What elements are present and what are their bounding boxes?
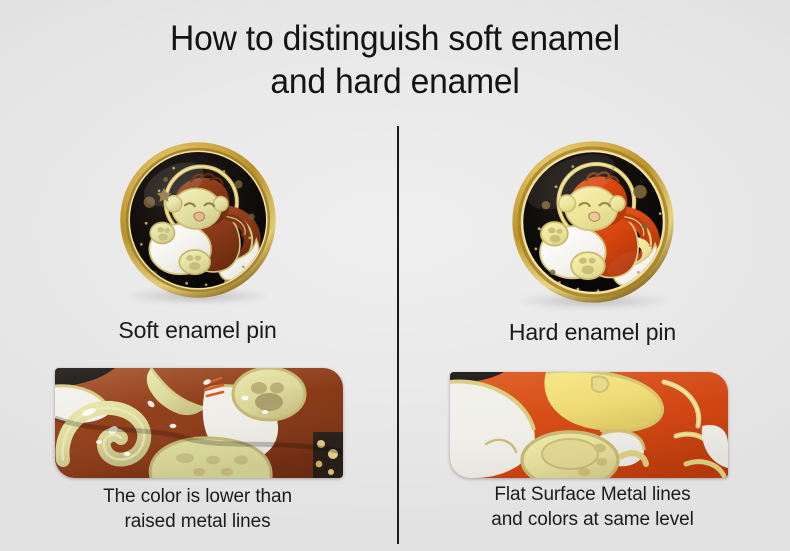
page-title-line-1: How to distinguish soft enamel	[16, 17, 774, 60]
hard-caption-line-2: and colors at same level	[395, 507, 790, 532]
hard-enamel-detail-caption: Flat Surface Metal lines and colors at s…	[395, 482, 790, 532]
soft-enamel-pin-svg	[117, 139, 279, 301]
hard-enamel-detail-image	[450, 372, 728, 478]
soft-caption-line-1: The color is lower than	[0, 484, 395, 509]
hard-enamel-pin-image	[509, 138, 677, 306]
soft-enamel-pin-label: Soft enamel pin	[0, 316, 395, 344]
hard-enamel-pin-svg	[509, 138, 677, 306]
hard-enamel-pin-label: Hard enamel pin	[395, 318, 790, 346]
soft-enamel-detail-caption: The color is lower than raised metal lin…	[0, 484, 395, 534]
soft-enamel-detail-image	[55, 368, 343, 478]
soft-enamel-column: Soft enamel pin	[0, 126, 395, 551]
page-title-line-2: and hard enamel	[16, 60, 774, 103]
soft-enamel-pin-image	[117, 139, 279, 301]
page-title: How to distinguish soft enamel and hard …	[16, 17, 774, 103]
hard-enamel-detail-svg	[450, 372, 728, 478]
soft-enamel-detail-svg	[55, 368, 343, 478]
hard-enamel-column: Hard enamel pin	[395, 126, 790, 551]
soft-caption-line-2: raised metal lines	[0, 509, 395, 534]
infographic-page: How to distinguish soft enamel and hard …	[0, 0, 790, 551]
hard-caption-line-1: Flat Surface Metal lines	[395, 482, 790, 507]
